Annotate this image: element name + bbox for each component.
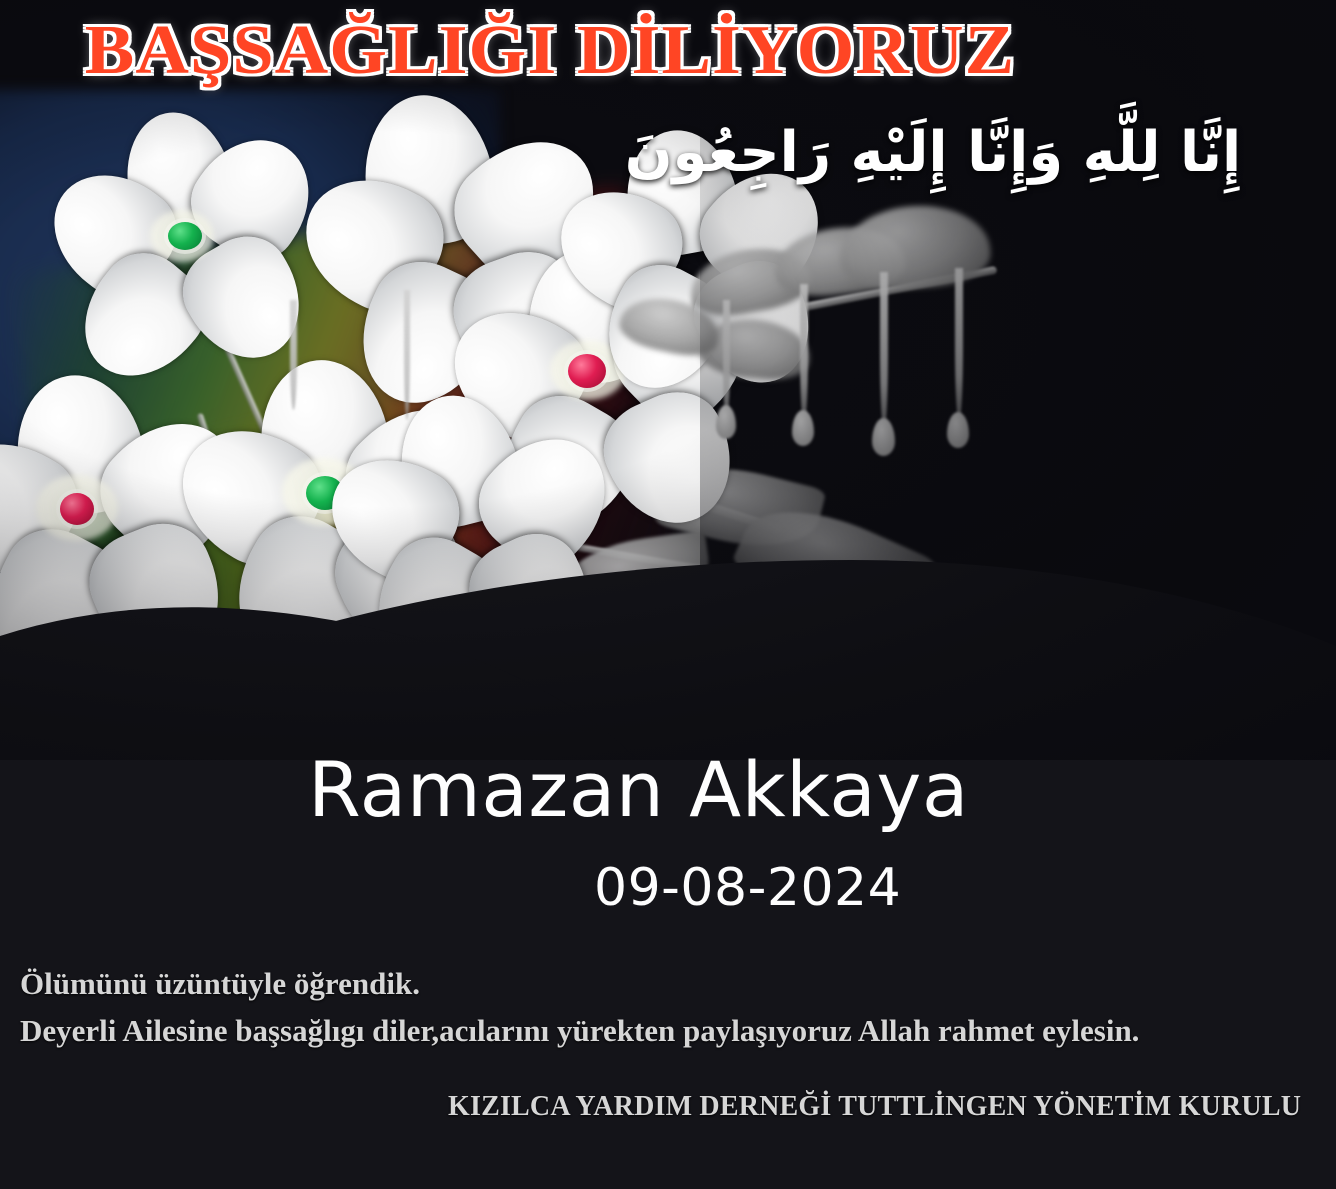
page-title: BAŞSAĞLIĞI DİLİYORUZ xyxy=(0,16,1133,86)
deceased-date: 09-08-2024 xyxy=(594,862,901,914)
deceased-name: Ramazan Akkaya xyxy=(308,752,969,828)
arabic-verse: إِنَّا لِلَّهِ وَإِنَّا إِلَيْهِ رَاجِعُ… xyxy=(548,110,1318,197)
organization-signature: KIZILCA YARDIM DERNEĞİ TUTTLİNGEN YÖNETİ… xyxy=(448,1093,1301,1121)
memorial-card: BAŞSAĞLIĞI DİLİYORUZ إِنَّا لِلَّهِ وَإِ… xyxy=(0,0,1336,1189)
condolence-line-1: Ölümünü üzüntüyle öğrendik. xyxy=(20,968,420,999)
condolence-line-2: Deyerli Ailesine başsağlıgı diler,acılar… xyxy=(20,1015,1139,1046)
